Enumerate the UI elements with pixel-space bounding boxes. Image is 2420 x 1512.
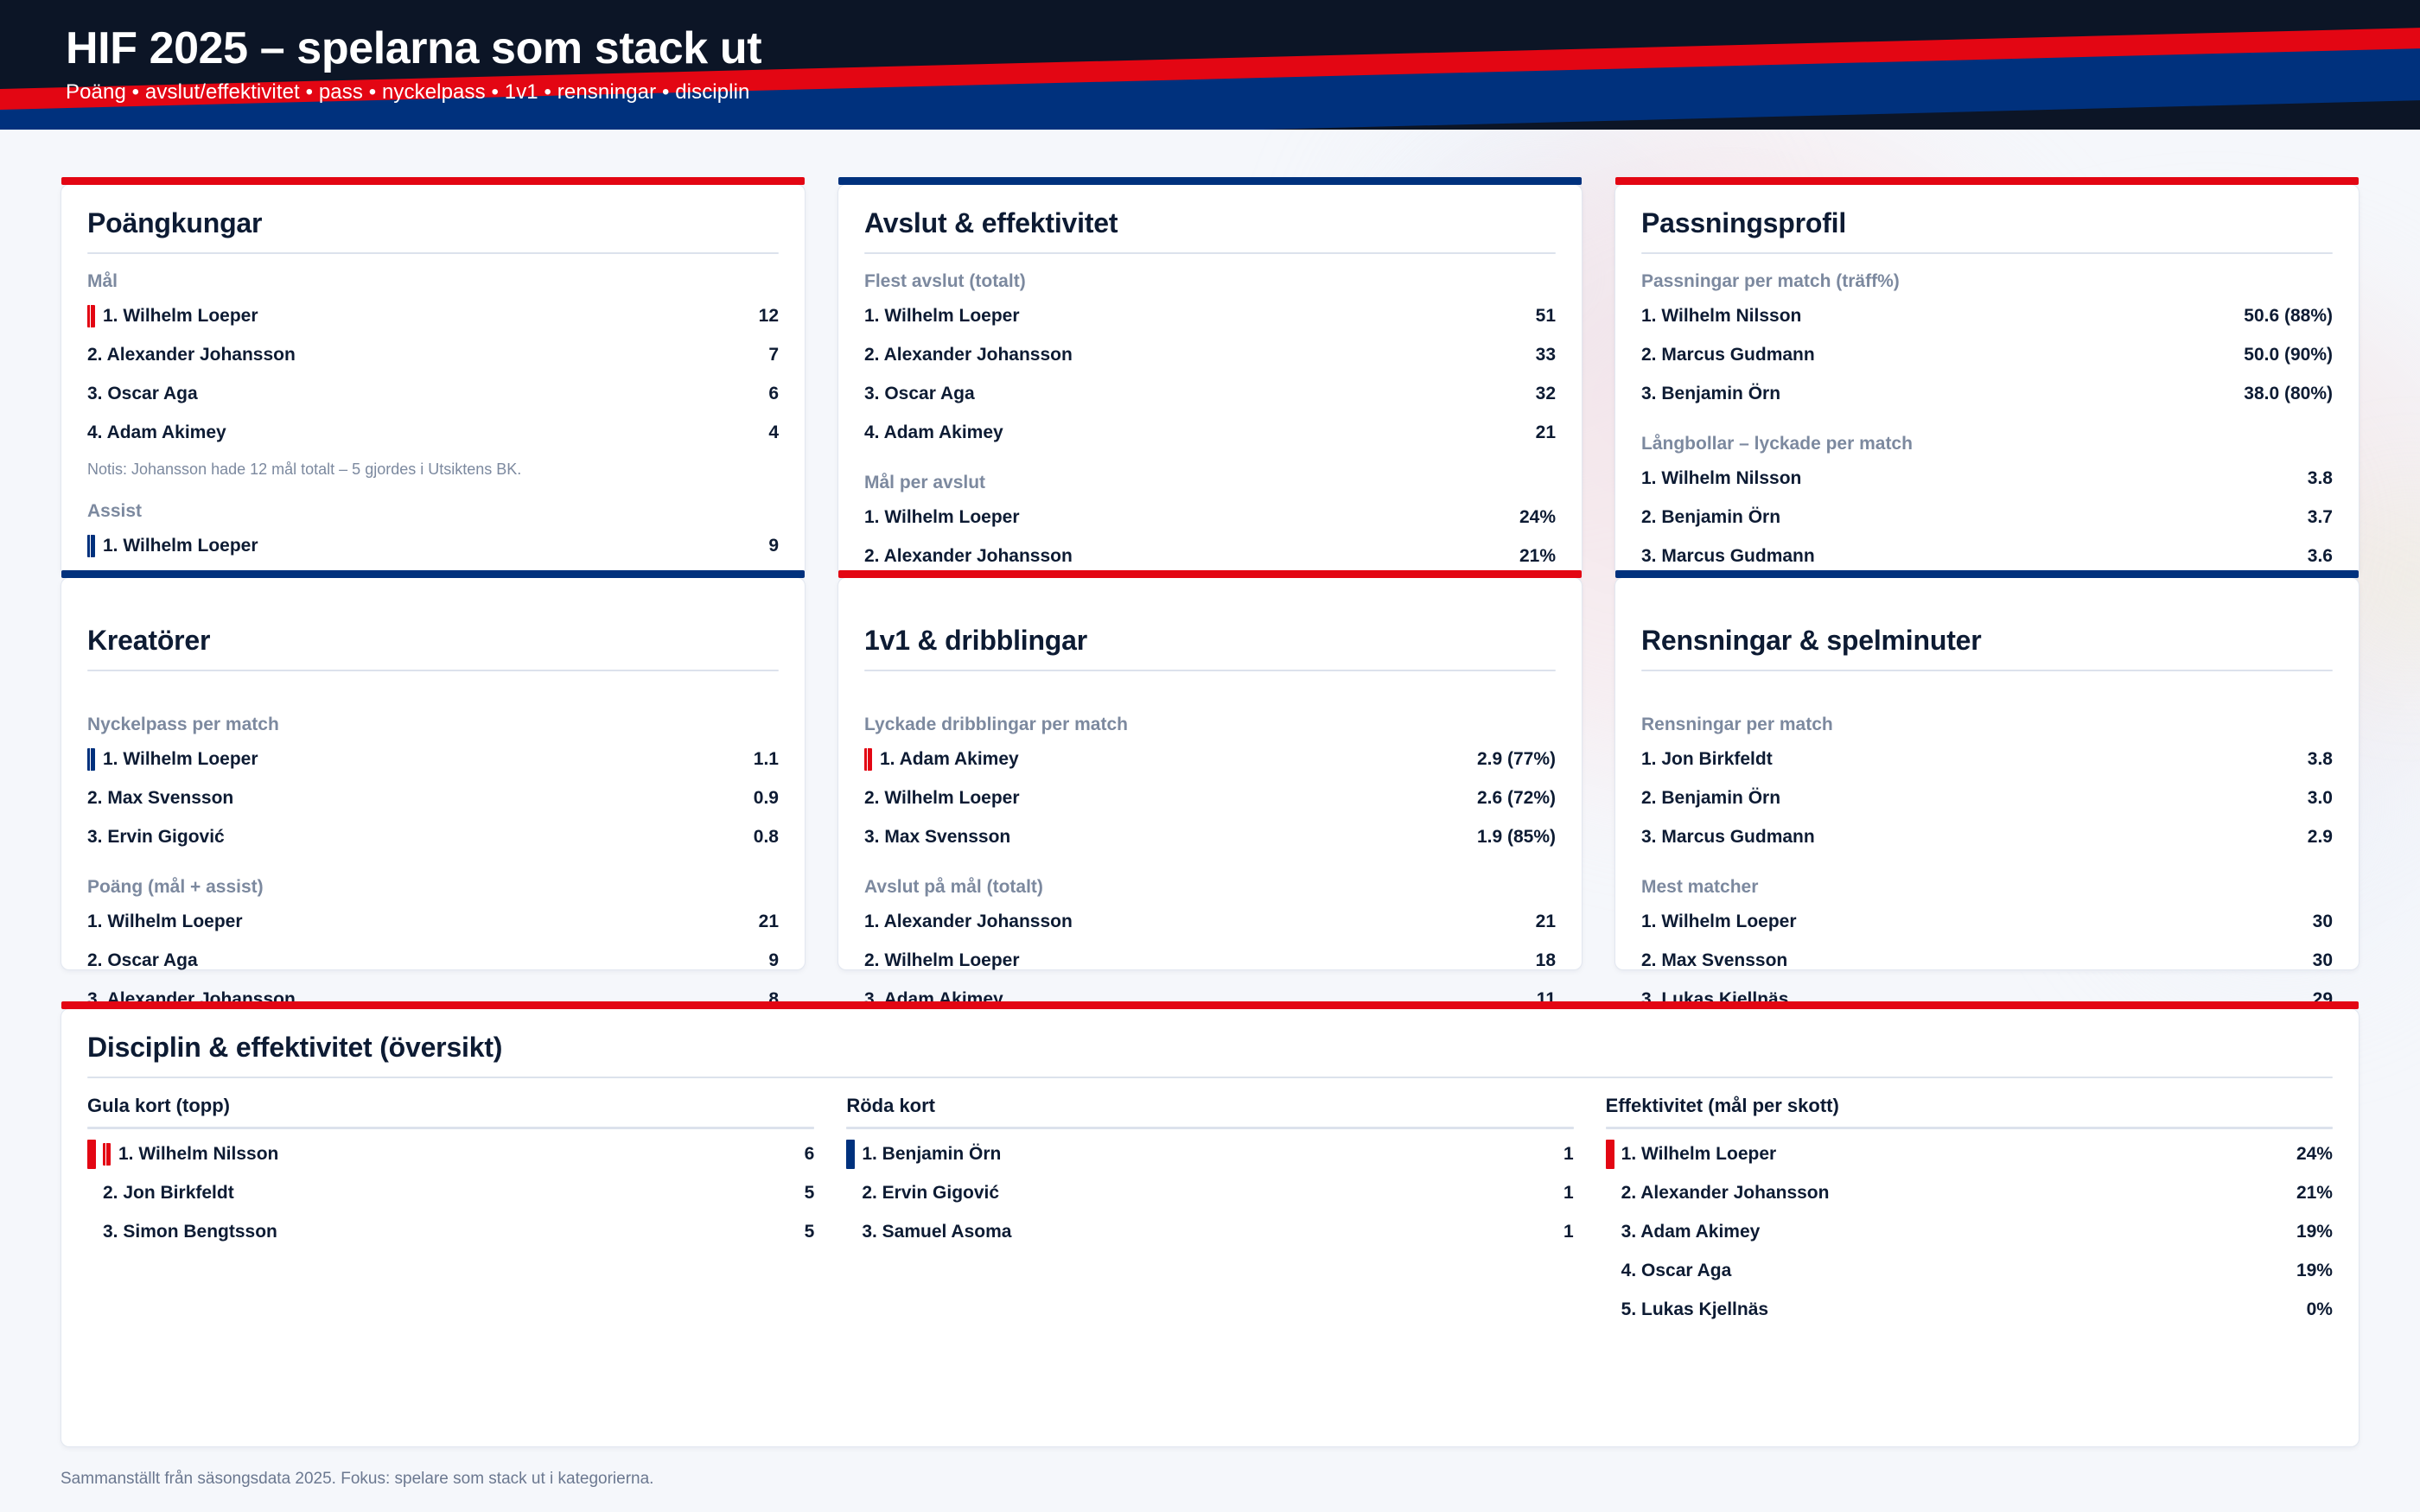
player-name: 2. Alexander Johansson — [864, 345, 1073, 365]
stats-row-name-group: 1. Wilhelm Loeper — [864, 507, 1020, 528]
player-name: 3. Samuel Asoma — [862, 1222, 1011, 1242]
divider — [864, 670, 1556, 671]
stats-section: Avslut på mål (totalt)1. Alexander Johan… — [864, 875, 1556, 1019]
overview-row-name-group: 5. Lukas Kjellnäs — [1606, 1295, 1768, 1325]
stats-row: 2. Oscar Aga9 — [87, 941, 779, 980]
stat-value: 1 — [1563, 1183, 1574, 1204]
stat-value: 2.9 (77%) — [1477, 749, 1556, 770]
rank-marker-secondary-icon — [103, 1143, 111, 1166]
stat-value: 19% — [2296, 1261, 2333, 1281]
stat-value: 21 — [1536, 422, 1556, 443]
stats-row-name-group: 1. Wilhelm Loeper — [87, 535, 258, 557]
stats-row: 3. Oscar Aga6 — [87, 374, 779, 413]
player-name: 1. Alexander Johansson — [864, 912, 1073, 932]
overview-row: 4. Oscar Aga19% — [1606, 1251, 2333, 1290]
player-name: 2. Marcus Gudmann — [1641, 345, 1815, 365]
overview-column: Effektivitet (mål per skott)1. Wilhelm L… — [1606, 1094, 2333, 1330]
player-name: 3. Oscar Aga — [87, 384, 198, 404]
stats-row-name-group: 3. Ervin Gigović — [87, 827, 225, 848]
player-name: 2. Alexander Johansson — [864, 546, 1073, 567]
overview-row-name-group: 4. Oscar Aga — [1606, 1256, 1732, 1286]
stats-row: 2. Wilhelm Loeper18 — [864, 941, 1556, 980]
stat-value: 19% — [2296, 1222, 2333, 1242]
overview-column-title: Gula kort (topp) — [87, 1094, 814, 1119]
stat-value: 1.1 — [754, 749, 779, 770]
player-name: 5. Lukas Kjellnäs — [1621, 1299, 1768, 1320]
stats-section: Långbollar – lyckade per match1. Wilhelm… — [1641, 432, 2333, 575]
overview-columns: Gula kort (topp)1. Wilhelm Nilsson62. Jo… — [87, 1094, 2333, 1330]
player-name: 4. Adam Akimey — [87, 422, 226, 443]
rank-marker-icon — [87, 535, 95, 557]
stat-value: 18 — [1536, 950, 1556, 971]
stats-section-label: Rensningar per match — [1641, 713, 2333, 736]
overview-column: Gula kort (topp)1. Wilhelm Nilsson62. Jo… — [87, 1094, 814, 1330]
stats-section-label: Mål per avslut — [864, 471, 1556, 494]
overview-row-name-group: 1. Wilhelm Loeper — [1606, 1140, 1777, 1169]
divider — [87, 1127, 814, 1129]
stat-value: 1 — [1563, 1144, 1574, 1165]
overview-row: 5. Lukas Kjellnäs0% — [1606, 1290, 2333, 1329]
stats-row: 3. Marcus Gudmann2.9 — [1641, 817, 2333, 856]
stat-value: 5 — [805, 1183, 815, 1204]
player-name: 3. Simon Bengtsson — [103, 1222, 277, 1242]
stats-row: 2. Benjamin Örn3.7 — [1641, 498, 2333, 537]
player-name: 2. Wilhelm Loeper — [864, 788, 1020, 809]
overview-row-name-group: 1. Benjamin Örn — [846, 1140, 1001, 1169]
stats-row-name-group: 1. Jon Birkfeldt — [1641, 749, 1773, 770]
stats-card: PassningsprofilPassningar per match (trä… — [1614, 184, 2359, 577]
stats-row-name-group: 1. Alexander Johansson — [864, 912, 1073, 932]
stats-row-name-group: 1. Wilhelm Loeper — [87, 305, 258, 327]
player-name: 3. Marcus Gudmann — [1641, 827, 1815, 848]
rank-marker-icon — [1606, 1140, 1614, 1169]
rank-marker-icon — [87, 748, 95, 771]
divider — [864, 252, 1556, 254]
player-name: 1. Wilhelm Nilsson — [1641, 306, 1801, 327]
stats-row-name-group: 1. Wilhelm Loeper — [87, 912, 243, 932]
stats-row: 2. Max Svensson30 — [1641, 941, 2333, 980]
stats-section-label: Poäng (mål + assist) — [87, 875, 779, 899]
divider — [87, 670, 779, 671]
overview-row: 1. Wilhelm Loeper24% — [1606, 1134, 2333, 1173]
stat-value: 50.6 (88%) — [2244, 306, 2333, 327]
stats-row: 3. Oscar Aga32 — [864, 374, 1556, 413]
overview-row-name-group: 2. Alexander Johansson — [1606, 1178, 1830, 1208]
stats-section: Nyckelpass per match1. Wilhelm Loeper1.1… — [87, 713, 779, 856]
stats-row: 1. Wilhelm Loeper21 — [87, 902, 779, 941]
overview-row-name-group: 3. Adam Akimey — [1606, 1217, 1761, 1247]
rank-marker-spacer — [1606, 1178, 1614, 1208]
stats-row-name-group: 2. Oscar Aga — [87, 950, 198, 971]
overview-row-name-group: 3. Simon Bengtsson — [87, 1217, 277, 1247]
stats-section: Passningar per match (träff%)1. Wilhelm … — [1641, 270, 2333, 413]
player-name: 4. Adam Akimey — [864, 422, 1003, 443]
stats-row-name-group: 1. Wilhelm Loeper — [87, 748, 258, 771]
overview-row: 3. Simon Bengtsson5 — [87, 1212, 814, 1251]
player-name: 2. Wilhelm Loeper — [864, 950, 1020, 971]
overview-row: 2. Alexander Johansson21% — [1606, 1173, 2333, 1212]
stats-card: PoängkungarMål1. Wilhelm Loeper122. Alex… — [60, 184, 806, 577]
player-name: 2. Max Svensson — [87, 788, 233, 809]
rank-marker-spacer — [1606, 1217, 1614, 1247]
player-name: 2. Alexander Johansson — [1621, 1183, 1830, 1204]
stats-section-label: Långbollar – lyckade per match — [1641, 432, 2333, 455]
stats-section: Poäng (mål + assist)1. Wilhelm Loeper212… — [87, 875, 779, 1019]
stats-row-name-group: 1. Wilhelm Loeper — [1641, 912, 1797, 932]
overview-card: Disciplin & effektivitet (översikt) Gula… — [60, 1008, 2359, 1447]
stats-row: 1. Wilhelm Loeper9 — [87, 527, 779, 566]
player-name: 2. Ervin Gigović — [862, 1183, 999, 1204]
player-name: 3. Ervin Gigović — [87, 827, 225, 848]
player-name: 1. Wilhelm Nilsson — [1641, 468, 1801, 489]
stat-value: 0.8 — [754, 827, 779, 848]
stats-card: Rensningar & spelminuterRensningar per m… — [1614, 577, 2359, 970]
player-name: 1. Wilhelm Loeper — [1641, 912, 1797, 932]
stats-row: 2. Alexander Johansson7 — [87, 335, 779, 374]
stats-row-name-group: 2. Max Svensson — [1641, 950, 1787, 971]
overview-row-name-group: 1. Wilhelm Nilsson — [87, 1140, 278, 1169]
stat-value: 5 — [805, 1222, 815, 1242]
rank-marker-icon — [846, 1140, 855, 1169]
overview-row: 2. Ervin Gigović1 — [846, 1173, 1573, 1212]
stats-row: 1. Adam Akimey2.9 (77%) — [864, 740, 1556, 778]
player-name: 3. Max Svensson — [864, 827, 1010, 848]
stats-row: 3. Max Svensson1.9 (85%) — [864, 817, 1556, 856]
stats-section-label: Mest matcher — [1641, 875, 2333, 899]
stats-row-name-group: 4. Adam Akimey — [864, 422, 1003, 443]
stat-value: 32 — [1536, 384, 1556, 404]
stats-row-name-group: 1. Adam Akimey — [864, 748, 1019, 771]
player-name: 2. Jon Birkfeldt — [103, 1183, 234, 1204]
section-note: Notis: Johansson hade 12 mål totalt – 5 … — [87, 459, 779, 480]
overview-column-title: Effektivitet (mål per skott) — [1606, 1094, 2333, 1119]
stats-card-title: Kreatörer — [87, 625, 779, 657]
rank-marker-spacer — [1606, 1256, 1614, 1286]
stats-row: 3. Ervin Gigović0.8 — [87, 817, 779, 856]
stat-value: 30 — [2313, 912, 2333, 932]
stats-row-name-group: 2. Max Svensson — [87, 788, 233, 809]
stats-card-title: Avslut & effektivitet — [864, 207, 1556, 239]
stats-card-title: Poängkungar — [87, 207, 779, 239]
stats-row-name-group: 1. Wilhelm Loeper — [864, 306, 1020, 327]
page-title: HIF 2025 – spelarna som stack ut — [66, 24, 761, 73]
stat-value: 0.9 — [754, 788, 779, 809]
stats-section-label: Mål — [87, 270, 779, 293]
divider — [1606, 1127, 2333, 1129]
divider — [87, 1077, 2333, 1078]
stats-card: Avslut & effektivitetFlest avslut (total… — [837, 184, 1583, 577]
stat-value: 12 — [759, 306, 779, 327]
rank-marker-spacer — [846, 1178, 855, 1208]
player-name: 1. Wilhelm Loeper — [103, 306, 258, 327]
stat-value: 21% — [2296, 1183, 2333, 1204]
player-name: 1. Benjamin Örn — [862, 1144, 1001, 1165]
page-header: HIF 2025 – spelarna som stack ut Poäng •… — [0, 0, 2420, 130]
divider — [1641, 670, 2333, 671]
stat-value: 1 — [1563, 1222, 1574, 1242]
player-name: 2. Oscar Aga — [87, 950, 198, 971]
stat-value: 6 — [768, 384, 779, 404]
player-name: 1. Wilhelm Loeper — [1621, 1144, 1777, 1165]
player-name: 2. Benjamin Örn — [1641, 788, 1780, 809]
stats-row-name-group: 3. Oscar Aga — [864, 384, 975, 404]
stats-section: Lyckade dribblingar per match1. Adam Aki… — [864, 713, 1556, 856]
stats-row: 2. Benjamin Örn3.0 — [1641, 778, 2333, 817]
stats-row: 1. Alexander Johansson21 — [864, 902, 1556, 941]
player-name: 3. Benjamin Örn — [1641, 384, 1780, 404]
footer-text: Sammanställt från säsongsdata 2025. Foku… — [60, 1470, 653, 1488]
player-name: 2. Max Svensson — [1641, 950, 1787, 971]
stats-section-label: Passningar per match (träff%) — [1641, 270, 2333, 293]
stat-value: 38.0 (80%) — [2244, 384, 2333, 404]
stats-section-label: Lyckade dribblingar per match — [864, 713, 1556, 736]
content-stage: PoängkungarMål1. Wilhelm Loeper122. Alex… — [0, 184, 2420, 1447]
stats-row: 2. Max Svensson0.9 — [87, 778, 779, 817]
stat-value: 51 — [1536, 306, 1556, 327]
overview-row: 2. Jon Birkfeldt5 — [87, 1173, 814, 1212]
stats-row-name-group: 2. Alexander Johansson — [864, 546, 1073, 567]
stats-row: 1. Wilhelm Loeper51 — [864, 296, 1556, 335]
stats-row-name-group: 2. Alexander Johansson — [87, 345, 296, 365]
stat-value: 21 — [759, 912, 779, 932]
stat-value: 9 — [768, 536, 779, 556]
stat-value: 33 — [1536, 345, 1556, 365]
stat-value: 24% — [2296, 1144, 2333, 1165]
overview-row-name-group: 2. Ervin Gigović — [846, 1178, 999, 1208]
stats-section-label: Assist — [87, 499, 779, 523]
stat-value: 1.9 (85%) — [1477, 827, 1556, 848]
overview-column: Röda kort1. Benjamin Örn12. Ervin Gigovi… — [846, 1094, 1573, 1330]
stats-card-grid: PoängkungarMål1. Wilhelm Loeper122. Alex… — [60, 184, 2359, 970]
stats-row-name-group: 2. Benjamin Örn — [1641, 788, 1780, 809]
stats-row-name-group: 2. Wilhelm Loeper — [864, 950, 1020, 971]
stat-value: 30 — [2313, 950, 2333, 971]
stats-row: 1. Jon Birkfeldt3.8 — [1641, 740, 2333, 778]
stat-value: 2.6 (72%) — [1477, 788, 1556, 809]
player-name: 1. Wilhelm Loeper — [87, 912, 243, 932]
stats-section: Flest avslut (totalt)1. Wilhelm Loeper51… — [864, 270, 1556, 452]
stat-value: 4 — [768, 422, 779, 443]
stats-card-title: Rensningar & spelminuter — [1641, 625, 2333, 657]
overview-row: 1. Benjamin Örn1 — [846, 1134, 1573, 1173]
rank-marker-icon — [87, 305, 95, 327]
stat-value: 21% — [1519, 546, 1556, 567]
stats-row-name-group: 1. Wilhelm Nilsson — [1641, 468, 1801, 489]
player-name: 3. Marcus Gudmann — [1641, 546, 1815, 567]
stats-row-name-group: 1. Wilhelm Nilsson — [1641, 306, 1801, 327]
rank-marker-spacer — [846, 1217, 855, 1247]
overview-row: 1. Wilhelm Nilsson6 — [87, 1134, 814, 1173]
stat-value: 3.0 — [2308, 788, 2333, 809]
stats-row: 1. Wilhelm Loeper30 — [1641, 902, 2333, 941]
overview-column-title: Röda kort — [846, 1094, 1573, 1119]
rank-marker-spacer — [87, 1217, 96, 1247]
stat-value: 3.8 — [2308, 468, 2333, 489]
stat-value: 3.8 — [2308, 749, 2333, 770]
stats-row: 1. Wilhelm Nilsson3.8 — [1641, 459, 2333, 498]
player-name: 1. Wilhelm Loeper — [864, 306, 1020, 327]
overview-row: 3. Adam Akimey19% — [1606, 1212, 2333, 1251]
stats-row: 2. Marcus Gudmann50.0 (90%) — [1641, 335, 2333, 374]
stats-row-name-group: 3. Benjamin Örn — [1641, 384, 1780, 404]
stats-row: 1. Wilhelm Loeper24% — [864, 498, 1556, 537]
stat-value: 3.7 — [2308, 507, 2333, 528]
stats-row: 2. Wilhelm Loeper2.6 (72%) — [864, 778, 1556, 817]
page-footer: Sammanställt från säsongsdata 2025. Foku… — [0, 1470, 2420, 1489]
stats-card: KreatörerNyckelpass per match1. Wilhelm … — [60, 577, 806, 970]
player-name: 1. Adam Akimey — [880, 749, 1019, 770]
overview-row-name-group: 3. Samuel Asoma — [846, 1217, 1011, 1247]
overview-row-name-group: 2. Jon Birkfeldt — [87, 1178, 234, 1208]
stat-value: 24% — [1519, 507, 1556, 528]
stats-row-name-group: 2. Marcus Gudmann — [1641, 345, 1815, 365]
rank-marker-icon — [864, 748, 872, 771]
stat-value: 3.6 — [2308, 546, 2333, 567]
stat-value: 7 — [768, 345, 779, 365]
divider — [87, 252, 779, 254]
stat-value: 6 — [805, 1144, 815, 1165]
stats-row: 4. Adam Akimey21 — [864, 413, 1556, 452]
rank-marker-spacer — [1606, 1295, 1614, 1325]
player-name: 1. Wilhelm Loeper — [864, 507, 1020, 528]
player-name: 1. Wilhelm Loeper — [103, 536, 258, 556]
stat-value: 21 — [1536, 912, 1556, 932]
stats-row: 1. Wilhelm Loeper1.1 — [87, 740, 779, 778]
stats-section: Mål1. Wilhelm Loeper122. Alexander Johan… — [87, 270, 779, 480]
stats-row-name-group: 3. Oscar Aga — [87, 384, 198, 404]
stats-row-name-group: 3. Marcus Gudmann — [1641, 546, 1815, 567]
stats-section-label: Flest avslut (totalt) — [864, 270, 1556, 293]
stat-value: 2.9 — [2308, 827, 2333, 848]
stat-value: 9 — [768, 950, 779, 971]
player-name: 2. Alexander Johansson — [87, 345, 296, 365]
stats-card: 1v1 & dribblingarLyckade dribblingar per… — [837, 577, 1583, 970]
player-name: 1. Wilhelm Loeper — [103, 749, 258, 770]
overview-card-title: Disciplin & effektivitet (översikt) — [87, 1032, 2333, 1064]
stats-row: 1. Wilhelm Loeper12 — [87, 296, 779, 335]
stat-value: 0% — [2307, 1299, 2333, 1320]
player-name: 4. Oscar Aga — [1621, 1261, 1732, 1281]
divider — [846, 1127, 1573, 1129]
stats-row-name-group: 3. Marcus Gudmann — [1641, 827, 1815, 848]
stats-section-label: Avslut på mål (totalt) — [864, 875, 1556, 899]
stats-row-name-group: 2. Wilhelm Loeper — [864, 788, 1020, 809]
stats-section: Rensningar per match1. Jon Birkfeldt3.82… — [1641, 713, 2333, 856]
player-name: 1. Wilhelm Nilsson — [118, 1144, 278, 1165]
player-name: 3. Adam Akimey — [1621, 1222, 1761, 1242]
rank-marker-icon — [87, 1140, 96, 1169]
stats-card-title: Passningsprofil — [1641, 207, 2333, 239]
stat-value: 50.0 (90%) — [2244, 345, 2333, 365]
stats-row: 4. Adam Akimey4 — [87, 413, 779, 452]
stats-row: 2. Alexander Johansson33 — [864, 335, 1556, 374]
player-name: 2. Benjamin Örn — [1641, 507, 1780, 528]
stats-section-label: Nyckelpass per match — [87, 713, 779, 736]
player-name: 1. Jon Birkfeldt — [1641, 749, 1773, 770]
stats-row: 3. Benjamin Örn38.0 (80%) — [1641, 374, 2333, 413]
player-name: 3. Oscar Aga — [864, 384, 975, 404]
overview-row: 3. Samuel Asoma1 — [846, 1212, 1573, 1251]
stats-section: Mest matcher1. Wilhelm Loeper302. Max Sv… — [1641, 875, 2333, 1019]
stats-row-name-group: 4. Adam Akimey — [87, 422, 226, 443]
page-subtitle: Poäng • avslut/effektivitet • pass • nyc… — [66, 80, 761, 105]
stats-card-title: 1v1 & dribblingar — [864, 625, 1556, 657]
rank-marker-spacer — [87, 1178, 96, 1208]
stats-row-name-group: 2. Benjamin Örn — [1641, 507, 1780, 528]
stats-row: 1. Wilhelm Nilsson50.6 (88%) — [1641, 296, 2333, 335]
divider — [1641, 252, 2333, 254]
stats-row-name-group: 3. Max Svensson — [864, 827, 1010, 848]
stats-row-name-group: 2. Alexander Johansson — [864, 345, 1073, 365]
